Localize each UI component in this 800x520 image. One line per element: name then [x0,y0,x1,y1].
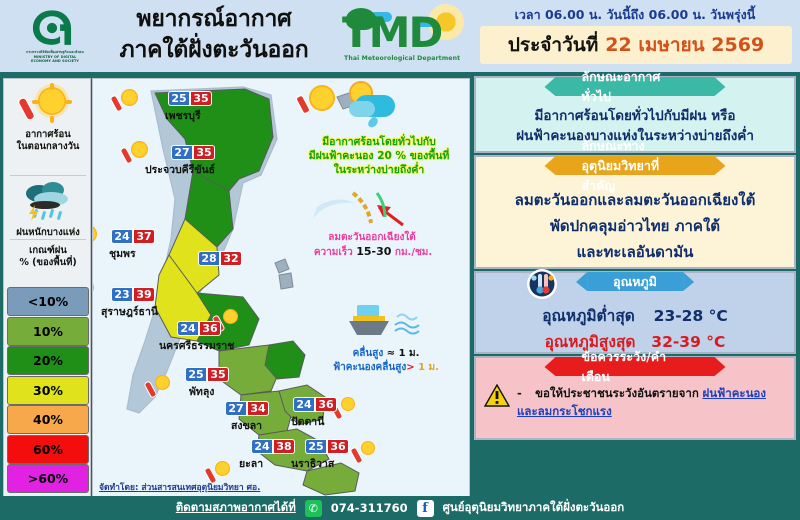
temp-min: 24 [111,229,133,244]
scale-item-5: 60% [7,435,89,464]
header-left: กระทรวงดิจิทัลเพื่อเศรษฐกิจและสังคม MINI… [0,0,470,72]
wind-note-l1: ลมตะวันออกเฉียงใต้ [328,232,415,243]
province-label: ชุมพร [109,245,136,262]
tmd-wordmark: TMD [342,12,441,54]
sun-icon [361,441,375,455]
scale-item-label: <10% [28,294,68,309]
legend-rain: ฝนหนักบางแห่ง [4,181,92,239]
scale-item-6: >60% [7,464,89,493]
temp-max: 35 [193,145,215,160]
wave-height-1: 1 ม. [399,348,420,359]
title-line-2: ภาคใต้ฝั่งตะวันออก [96,35,332,66]
right-panel: ลักษณะอากาศทั่วไป มีอากาศร้อนโดยทั่วไปกั… [474,76,796,498]
sun-icon [341,397,355,411]
section-meteorology-title: ลักษณะทางอุตุนิยมวิทยาที่สำคัญ [556,156,715,175]
page-title: พยากรณ์อากาศ ภาคใต้ฝั่งตะวันออก [96,4,332,66]
temp-max: 37 [133,229,155,244]
tmd-logo: TMD Thai Meteorological Department [340,4,468,68]
meteo-line-2: พัดปกคลุมอ่าวไทย ภาคใต้ [476,213,794,239]
phone-icon: ✆ [305,500,322,517]
weather-note-l1: มีอากาศร้อนโดยทั่วไปกับ [322,136,436,148]
temp-max: 34 [247,401,269,416]
section-general-title: ลักษณะอากาศทั่วไป [556,77,715,96]
meteo-line-1: ลมตะวันออกและลมตะวันออกเฉียงใต้ [476,187,794,213]
ministry-logo-caption: กระทรวงดิจิทัลเพื่อเศรษฐกิจและสังคม MINI… [26,50,84,64]
scale-item-label: 40% [33,412,63,427]
temp-min: 24 [293,397,315,412]
temperature-badge: 2735 [171,145,215,160]
warning-link-2[interactable]: และลมกระโชกแรง [517,404,612,418]
temperature-badge: 2436 [177,321,221,336]
temp-min: 27 [225,401,247,416]
wave-gt-sign: > [406,362,414,373]
forecast-infographic: กระทรวงดิจิทัลเพื่อเศรษฐกิจและสังคม MINI… [0,0,800,520]
footer-follow-text: ติดตามสภาพอากาศได้ที่ [176,499,296,517]
sun-thermometer-icon [4,83,92,129]
section-warning-title: ข้อควรระวัง/คำเตือน [556,357,715,376]
temp-min: 25 [185,367,207,382]
scale-title-line2: % (ของพื้นที่) [4,257,92,269]
province-label: ปัตตานี [291,413,324,430]
wind-speed-value: 15-30 [356,245,391,258]
footer-phone[interactable]: 074-311760 [331,501,408,515]
temperature-badge: 2438 [251,439,295,454]
scale-item-3: 30% [7,376,89,405]
scale-item-label: >60% [28,471,68,486]
province-label: พัทลุง [189,383,214,400]
temp-min: 24 [177,321,199,336]
warning-triangle-icon [484,384,510,407]
province-label: ยะลา [239,455,263,472]
cloud-icon [349,101,375,117]
province-label: สุราษฎร์ธานี [101,303,158,320]
date-box: ประจำวันที่ 22 เมษายน 2569 [480,26,792,64]
wave-approx-sign: ≈ [387,348,395,359]
warning-link-1[interactable]: ฝนฟ้าคะนอง [703,386,766,400]
section-meteorology: ลักษณะทางอุตุนิยมวิทยาที่สำคัญ ลมตะวันออ… [474,155,796,269]
legend-hot: อากาศร้อน ในตอนกลางวัน [4,83,92,153]
wave-height-2: 1 ม. [418,362,439,373]
section-temperature: อุณหภูมิ อุณหภูมิต่ำสุด 23-28 °C อุณหภู [474,271,796,354]
map-credit-label: จัดทำโดย: [99,483,138,493]
province-label: สงขลา [231,417,262,434]
temp-min-label: อุณหภูมิต่ำสุด [542,307,635,325]
legend-hot-line1: อากาศร้อน [4,129,92,141]
footer-facebook-page[interactable]: ศูนย์อุตุนิยมวิทยาภาคใต้ฝั่งตะวันออก [443,499,625,517]
temp-max: 36 [199,321,221,336]
map-panel: 2535เพชรบุรี2735ประจวบคีรีขันธ์2437ชุมพร… [92,78,470,498]
temperature-badge: 2339 [111,287,155,302]
temp-max: 38 [273,439,295,454]
temp-min: 28 [198,251,220,266]
scale-item-4: 40% [7,405,89,434]
temp-min: 25 [168,91,190,106]
scale-title-line1: เกณฑ์ฝน [4,245,92,257]
legend-hot-line2: ในตอนกลางวัน [4,141,92,153]
general-line-1: มีอากาศร้อนโดยทั่วไปกับมีฝน หรือ [476,106,794,126]
temp-max: 36 [315,397,337,412]
section-warning: ข้อควรระวัง/คำเตือน - ขอให้ประชาชนระวังอ… [474,356,796,440]
temperature-badge: 2535 [168,91,212,106]
temp-min-value: 23-28 °C [654,307,728,325]
sun-icon [38,87,66,115]
header-right: เวลา 06.00 น. วันนี้ถึง 06.00 น. วันพรุ่… [470,0,800,72]
warning-text: ขอให้ประชาชนระวังอันตรายจาก [535,386,699,400]
sun-icon [131,141,148,158]
map-credit: จัดทำโดย: ส่วนสารสนเทศอุตุนิยมวิทยา ศอ. [99,480,260,494]
thunderstorm-icon [4,181,92,227]
temp-min: 23 [111,287,133,302]
temperature-badge: 2832 [198,251,242,266]
time-range: เวลา 06.00 น. วันนี้ถึง 06.00 น. วันพรุ่… [470,5,800,25]
temp-min: 24 [251,439,273,454]
header: กระทรวงดิจิทัลเพื่อเศรษฐกิจและสังคม MINI… [0,0,800,72]
map-credit-value: ส่วนสารสนเทศอุตุนิยมวิทยา ศอ. [141,483,260,493]
tmd-subtitle: Thai Meteorological Department [344,55,460,62]
date-value: 22 เมษายน 2569 [605,30,764,60]
scale-item-label: 30% [33,383,63,398]
temp-max: 39 [133,287,155,302]
legend-scale-title: เกณฑ์ฝน % (ของพื้นที่) [4,245,92,269]
temperature-badge: 2436 [293,397,337,412]
temperature-badge: 2535 [185,367,229,382]
meteo-line-3: และทะเลอันดามัน [476,239,794,265]
sun-icon [309,85,335,111]
sun-icon [215,461,230,476]
scale-item-label: 60% [33,442,63,457]
date-label: ประจำวันที่ [508,30,598,60]
weather-note-l3: ในระหว่างบ่ายถึงค่ำ [334,164,425,176]
ministry-emblem-icon [30,8,74,48]
province-label: นครศรีธรรมราช [159,337,234,354]
province-label: นราธิวาส [291,455,334,472]
sun-icon [121,89,138,106]
province-label: เพชรบุรี [165,107,201,124]
footer: ติดตามสภาพอากาศได้ที่ ✆ 074-311760 f ศูน… [0,496,800,520]
section-temperature-title: อุณหภูมิ [587,272,683,291]
wind-note-l2c: กม./ชม. [395,247,432,258]
scale-item-label: 20% [33,353,63,368]
facebook-icon[interactable]: f [417,500,434,517]
province-label: ประจวบคีรีขันธ์ [145,161,215,178]
sun-icon [155,375,170,390]
temp-min: 27 [171,145,193,160]
boat-icon [331,297,435,345]
temp-max: 35 [190,91,212,106]
temp-max: 35 [207,367,229,382]
wind-note-l2a: ความเร็ว [314,247,353,258]
sun-icon [223,309,238,324]
scale-item-0: <10% [7,287,89,316]
temperature-badge: 2536 [305,439,349,454]
legend-rain-label: ฝนหนักบางแห่ง [4,227,92,239]
temperature-badge: 2437 [111,229,155,244]
temp-max: 32 [220,251,242,266]
ministry-logo: กระทรวงดิจิทัลเพื่อเศรษฐกิจและสังคม MINI… [18,6,90,68]
weather-note-l2: มีฝนฟ้าคะนอง 20 % ของพื้นที่ [309,150,450,162]
scale-item-2: 20% [7,346,89,375]
wave-note-l2a: ฟ้าคะนองคลื่นสูง [333,362,406,373]
title-line-1: พยากรณ์อากาศ [96,4,332,35]
scale-item-1: 10% [7,317,89,346]
temp-max: 36 [327,439,349,454]
temperature-badge: 2734 [225,401,269,416]
wave-note-l1a: คลื่นสูง [353,348,384,359]
warning-bullet: - [517,386,522,400]
scale-item-label: 10% [33,324,63,339]
legend-panel: อากาศร้อน ในตอนกลางวัน ฝนหนักบางแห่ง [3,78,91,498]
temp-min: 25 [305,439,327,454]
lightning-icon [28,205,40,221]
